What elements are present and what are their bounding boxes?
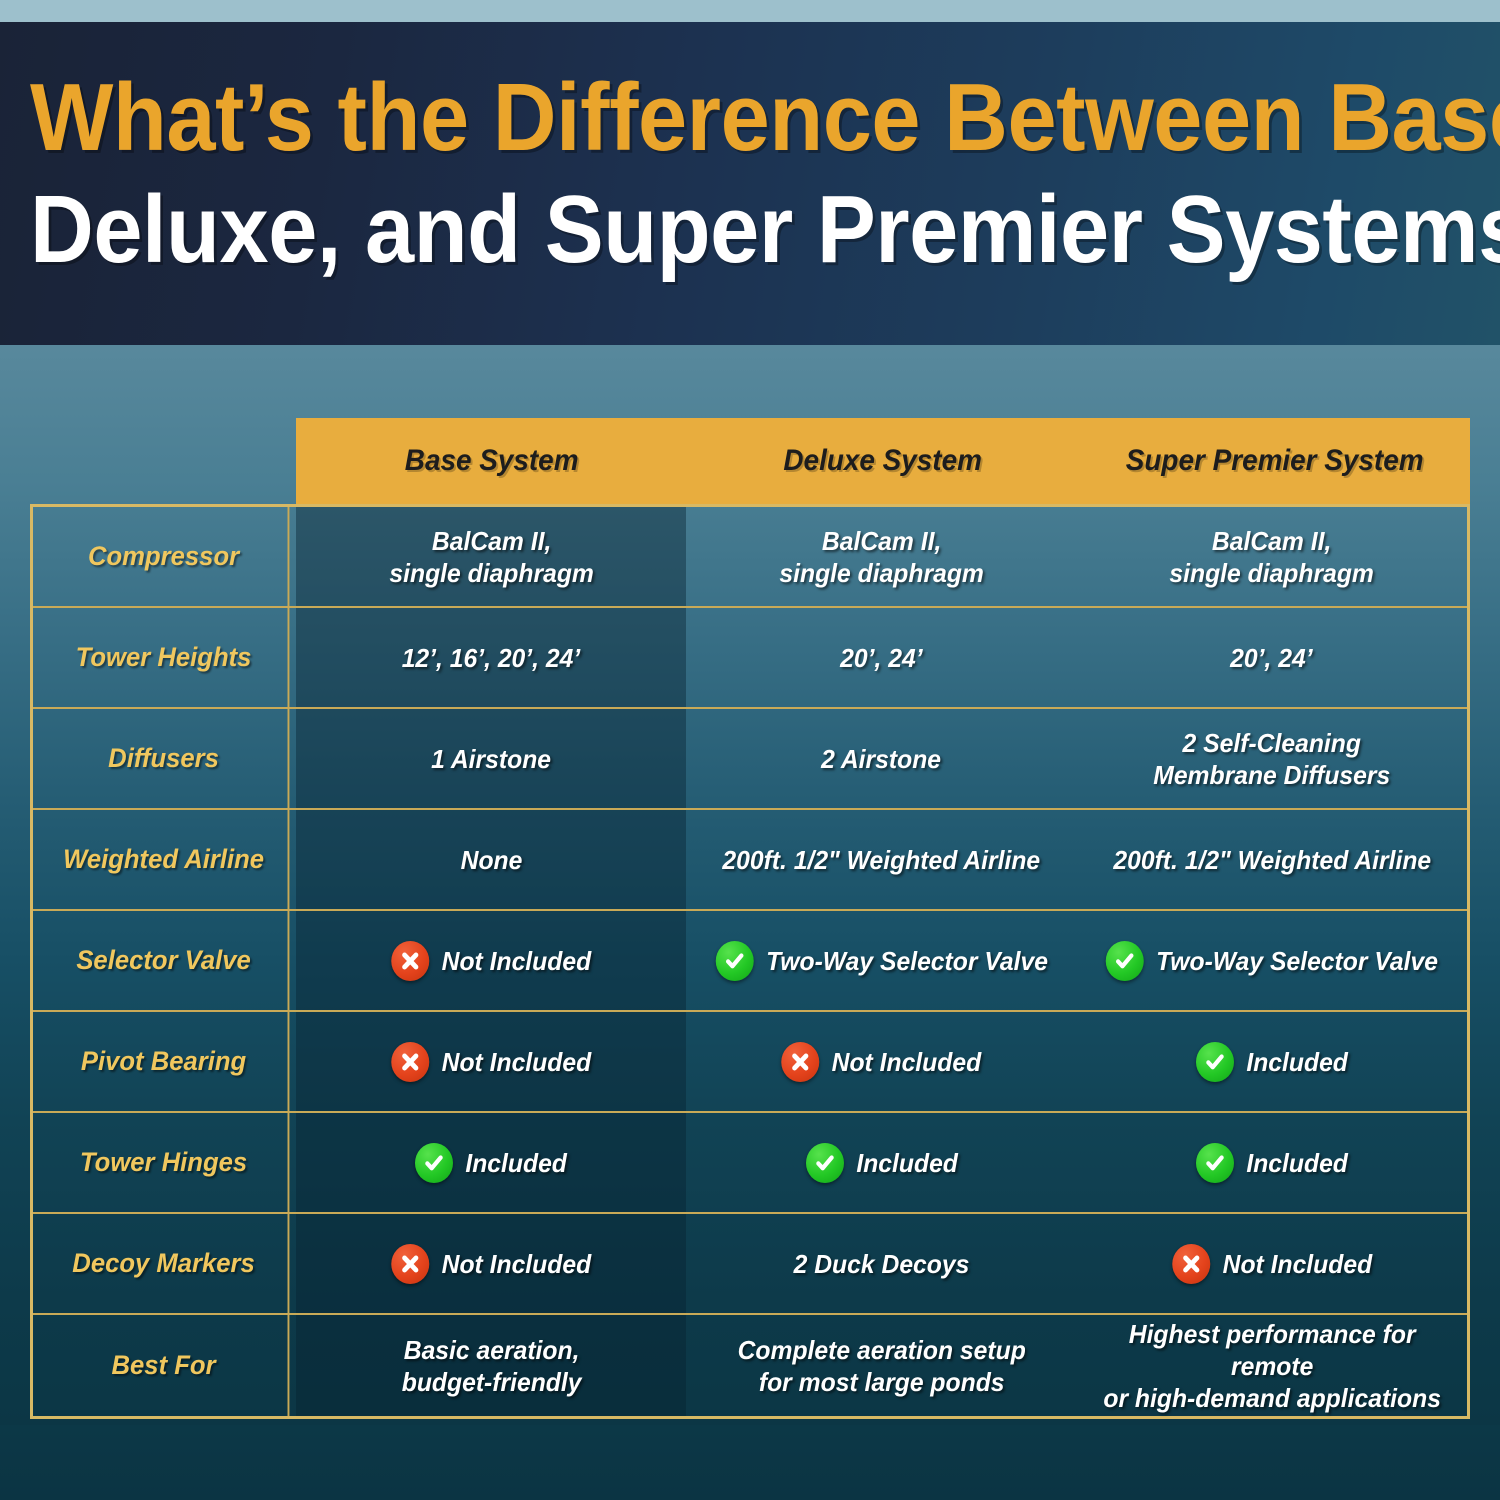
not-included-cross-icon: [391, 941, 429, 981]
cell-super-premier: BalCam II,single diaphragm: [1077, 507, 1467, 606]
cell-text-line: Two-Way Selector Valve: [766, 945, 1048, 977]
cell-text: Not Included: [442, 1248, 592, 1280]
infographic-page: What’s the Difference Between Base, Delu…: [0, 0, 1500, 1500]
cell-super-premier: 2 Self-CleaningMembrane Diffusers: [1077, 709, 1467, 808]
column-header-super-premier: Super Premier System: [1092, 444, 1456, 478]
cell-content: BalCam II,single diaphragm: [1162, 525, 1382, 589]
table-row: Tower HingesIncludedIncludedIncluded: [33, 1113, 1467, 1214]
cell-content: 2 Duck Decoys: [786, 1248, 977, 1280]
cell-content: Not Included: [384, 941, 599, 981]
cell-content: None: [453, 844, 530, 876]
cell-content: BalCam II,single diaphragm: [772, 525, 992, 589]
cell-text: 12’, 16’, 20’, 24’: [402, 642, 581, 674]
cell-text-line: 200ft. 1/2" Weighted Airline: [1113, 844, 1431, 876]
cell-text-line: BalCam II,: [1170, 525, 1375, 557]
comparison-table: Base System Deluxe System Super Premier …: [30, 418, 1470, 1419]
cell-text: Included: [466, 1147, 568, 1179]
row-label: Weighted Airline: [40, 810, 290, 909]
cell-base: Not Included: [296, 1214, 686, 1313]
cell-text-line: budget-friendly: [401, 1366, 581, 1398]
cell-text-line: Included: [1246, 1147, 1348, 1179]
included-check-icon: [715, 941, 753, 981]
not-included-cross-icon: [782, 1042, 820, 1082]
table-body: CompressorBalCam II,single diaphragmBalC…: [30, 504, 1470, 1419]
cell-text-line: BalCam II,: [779, 525, 984, 557]
cell-base: None: [296, 810, 686, 909]
cell-content: 200ft. 1/2" Weighted Airline: [1105, 844, 1438, 876]
cell-text-line: Not Included: [442, 945, 592, 977]
not-included-cross-icon: [391, 1244, 429, 1284]
cell-text-line: Included: [466, 1147, 568, 1179]
cell-text-line: BalCam II,: [389, 525, 594, 557]
table-row: CompressorBalCam II,single diaphragmBalC…: [33, 507, 1467, 608]
row-label: Selector Valve: [40, 911, 290, 1010]
cell-text-line: Complete aeration setup: [737, 1334, 1025, 1366]
cell-text: Not Included: [442, 945, 592, 977]
cell-content: Included: [798, 1143, 965, 1183]
cell-text: Not Included: [442, 1046, 592, 1078]
cell-text: Included: [856, 1147, 958, 1179]
cell-deluxe: Not Included: [686, 1012, 1076, 1111]
cell-text-line: None: [460, 844, 522, 876]
cell-content: Basic aeration,budget-friendly: [394, 1334, 589, 1398]
cell-text-line: single diaphragm: [389, 557, 594, 589]
cell-text: BalCam II,single diaphragm: [779, 525, 984, 589]
cell-text-line: for most large ponds: [737, 1366, 1025, 1398]
cell-text-line: 12’, 16’, 20’, 24’: [402, 642, 581, 674]
cell-text: 200ft. 1/2" Weighted Airline: [1113, 844, 1431, 876]
cell-content: Highest performance for remoteor high-de…: [1086, 1318, 1457, 1414]
cell-text-line: 200ft. 1/2" Weighted Airline: [723, 844, 1041, 876]
cell-text: Included: [1246, 1147, 1348, 1179]
cell-text-line: Membrane Diffusers: [1153, 759, 1390, 791]
cell-text-line: single diaphragm: [779, 557, 984, 589]
cell-content: 20’, 24’: [1223, 642, 1321, 674]
cell-text: Not Included: [832, 1046, 982, 1078]
cell-super-premier: Included: [1077, 1012, 1467, 1111]
cell-text-line: 2 Airstone: [822, 743, 942, 775]
cell-base: 1 Airstone: [296, 709, 686, 808]
table-row: Weighted AirlineNone200ft. 1/2" Weighted…: [33, 810, 1467, 911]
cell-text: 2 Airstone: [822, 743, 942, 775]
cell-text: Not Included: [1222, 1248, 1372, 1280]
cell-deluxe: 200ft. 1/2" Weighted Airline: [686, 810, 1076, 909]
cell-content: 200ft. 1/2" Weighted Airline: [715, 844, 1048, 876]
cell-content: Not Included: [384, 1244, 599, 1284]
cell-text: Highest performance for remoteor high-de…: [1094, 1318, 1450, 1414]
cell-super-premier: 200ft. 1/2" Weighted Airline: [1077, 810, 1467, 909]
cell-super-premier: Highest performance for remoteor high-de…: [1077, 1315, 1467, 1416]
cell-super-premier: Not Included: [1077, 1214, 1467, 1313]
cell-super-premier: Two-Way Selector Valve: [1077, 911, 1467, 1010]
cell-content: BalCam II,single diaphragm: [381, 525, 601, 589]
cell-content: Included: [408, 1143, 575, 1183]
cell-text: 20’, 24’: [1231, 642, 1313, 674]
cell-text: Included: [1246, 1046, 1348, 1078]
cell-content: 12’, 16’, 20’, 24’: [394, 642, 588, 674]
table-row: Selector ValveNot IncludedTwo-Way Select…: [33, 911, 1467, 1012]
row-label: Best For: [40, 1315, 290, 1416]
cell-deluxe: BalCam II,single diaphragm: [686, 507, 1076, 606]
table-row: Pivot BearingNot IncludedNot IncludedInc…: [33, 1012, 1467, 1113]
row-label: Tower Heights: [40, 608, 290, 707]
cell-base: Basic aeration,budget-friendly: [296, 1315, 686, 1416]
cell-super-premier: Included: [1077, 1113, 1467, 1212]
cell-deluxe: 2 Airstone: [686, 709, 1076, 808]
cell-content: Not Included: [384, 1042, 599, 1082]
column-header-base: Base System: [310, 444, 674, 478]
included-check-icon: [1196, 1042, 1234, 1082]
included-check-icon: [1196, 1143, 1234, 1183]
cell-text-line: 20’, 24’: [1231, 642, 1313, 674]
cell-text: Two-Way Selector Valve: [1156, 945, 1438, 977]
table-header-row: Base System Deluxe System Super Premier …: [30, 418, 1470, 504]
cell-base: 12’, 16’, 20’, 24’: [296, 608, 686, 707]
title-text-block: What’s the Difference Between Base, Delu…: [30, 62, 1470, 286]
cell-text: Two-Way Selector Valve: [766, 945, 1048, 977]
cell-content: Not Included: [774, 1042, 989, 1082]
cell-text-line: Not Included: [442, 1046, 592, 1078]
row-label: Decoy Markers: [40, 1214, 290, 1313]
cell-base: Included: [296, 1113, 686, 1212]
cell-text-line: 1 Airstone: [431, 743, 551, 775]
table-row: Diffusers1 Airstone2 Airstone2 Self-Clea…: [33, 709, 1467, 810]
cell-deluxe: Two-Way Selector Valve: [686, 911, 1076, 1010]
cell-text-line: 2 Duck Decoys: [794, 1248, 970, 1280]
included-check-icon: [1106, 941, 1144, 981]
cell-deluxe: Complete aeration setupfor most large po…: [686, 1315, 1076, 1416]
cell-text: 200ft. 1/2" Weighted Airline: [723, 844, 1041, 876]
cell-text-line: 20’, 24’: [840, 642, 922, 674]
cell-text: Basic aeration,budget-friendly: [401, 1334, 581, 1398]
cell-text-line: Not Included: [442, 1248, 592, 1280]
cell-content: 20’, 24’: [833, 642, 931, 674]
cell-content: 1 Airstone: [424, 743, 559, 775]
cell-deluxe: Included: [686, 1113, 1076, 1212]
cell-text-line: 2 Self-Cleaning: [1153, 727, 1390, 759]
cell-content: Two-Way Selector Valve: [708, 941, 1055, 981]
cell-text-line: Not Included: [832, 1046, 982, 1078]
cell-base: Not Included: [296, 1012, 686, 1111]
row-label: Tower Hinges: [40, 1113, 290, 1212]
cell-text-line: single diaphragm: [1170, 557, 1375, 589]
cell-content: 2 Self-CleaningMembrane Diffusers: [1146, 727, 1398, 791]
cell-content: Included: [1188, 1042, 1355, 1082]
row-label: Diffusers: [40, 709, 290, 808]
cell-content: 2 Airstone: [814, 743, 949, 775]
bottom-background-strip: [0, 1425, 1500, 1500]
cell-super-premier: 20’, 24’: [1077, 608, 1467, 707]
row-label: Compressor: [40, 507, 290, 606]
cell-text-line: Included: [856, 1147, 958, 1179]
included-check-icon: [415, 1143, 453, 1183]
cell-content: Not Included: [1164, 1244, 1379, 1284]
cell-text: 20’, 24’: [840, 642, 922, 674]
table-row: Tower Heights12’, 16’, 20’, 24’20’, 24’2…: [33, 608, 1467, 709]
table-row: Best ForBasic aeration,budget-friendlyCo…: [33, 1315, 1467, 1416]
cell-text-line: Not Included: [1222, 1248, 1372, 1280]
included-check-icon: [806, 1143, 844, 1183]
header-gold-bar: Base System Deluxe System Super Premier …: [296, 418, 1470, 504]
cell-deluxe: 2 Duck Decoys: [686, 1214, 1076, 1313]
title-banner: What’s the Difference Between Base, Delu…: [0, 22, 1500, 345]
cell-content: Complete aeration setupfor most large po…: [730, 1334, 1033, 1398]
title-line-2: Deluxe, and Super Premier Systems?: [30, 174, 1355, 286]
not-included-cross-icon: [1172, 1244, 1210, 1284]
not-included-cross-icon: [391, 1042, 429, 1082]
cell-text-line: Included: [1246, 1046, 1348, 1078]
cell-text-line: Highest performance for remote: [1094, 1318, 1450, 1382]
cell-text-line: Two-Way Selector Valve: [1156, 945, 1438, 977]
cell-text-line: Basic aeration,: [401, 1334, 581, 1366]
cell-text: 2 Self-CleaningMembrane Diffusers: [1153, 727, 1390, 791]
cell-text: BalCam II,single diaphragm: [389, 525, 594, 589]
cell-base: Not Included: [296, 911, 686, 1010]
cell-content: Included: [1188, 1143, 1355, 1183]
cell-text: 1 Airstone: [431, 743, 551, 775]
cell-text: 2 Duck Decoys: [794, 1248, 970, 1280]
header-corner-spacer: [30, 418, 296, 504]
cell-text: BalCam II,single diaphragm: [1170, 525, 1375, 589]
cell-content: Two-Way Selector Valve: [1098, 941, 1445, 981]
cell-text: Complete aeration setupfor most large po…: [737, 1334, 1025, 1398]
cell-text-line: or high-demand applications: [1094, 1382, 1450, 1414]
table-row: Decoy MarkersNot Included2 Duck DecoysNo…: [33, 1214, 1467, 1315]
cell-text: None: [460, 844, 522, 876]
cell-base: BalCam II,single diaphragm: [296, 507, 686, 606]
column-header-deluxe: Deluxe System: [701, 444, 1065, 478]
title-line-1: What’s the Difference Between Base,: [30, 62, 1355, 174]
cell-deluxe: 20’, 24’: [686, 608, 1076, 707]
row-label: Pivot Bearing: [40, 1012, 290, 1111]
